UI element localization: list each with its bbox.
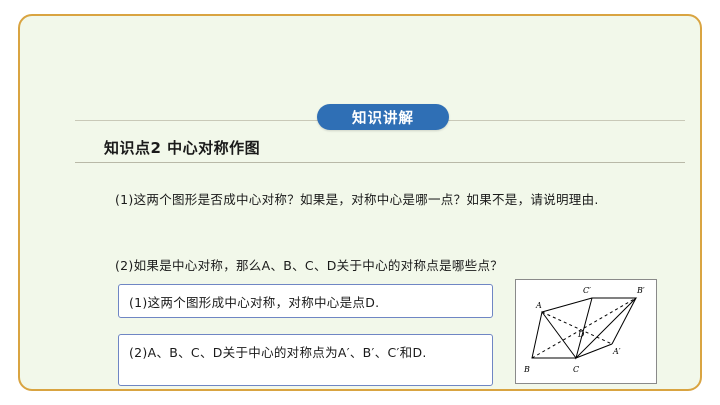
label-c: C [573, 365, 579, 374]
triangle-abc [532, 312, 576, 358]
title-underline [75, 162, 685, 163]
slide: 知识讲解 知识点2 中心对称作图 (1)这两个图形是否成中心对称？如果是，对称中… [0, 0, 720, 405]
answer-box-2: (2)A、B、C、D关于中心的对称点为A′、B′、C′和D. [118, 334, 493, 386]
label-b: B [523, 365, 530, 374]
knowledge-point-title: 知识点2 中心对称作图 [104, 137, 260, 158]
section-banner-label: 知识讲解 [352, 107, 414, 128]
label-d: D [577, 330, 585, 339]
section-banner: 知识讲解 [317, 104, 449, 130]
label-a-prime: A′ [612, 347, 621, 356]
question-2: (2)如果是中心对称，那么A、B、C、D关于中心的对称点是哪些点？ [115, 254, 640, 278]
answer-box-1: (1)这两个图形成中心对称，对称中心是点D. [118, 284, 493, 318]
question-1: (1)这两个图形是否成中心对称？如果是，对称中心是哪一点？如果不是，请说明理由. [115, 188, 640, 212]
figure-panel: C′ B′ A D A′ B C [515, 279, 657, 384]
central-symmetry-figure: C′ B′ A D A′ B C [516, 280, 656, 383]
content-card: 知识讲解 知识点2 中心对称作图 (1)这两个图形是否成中心对称？如果是，对称中… [18, 14, 702, 391]
label-b-prime: B′ [636, 286, 645, 295]
label-c-prime: C′ [583, 286, 591, 295]
label-a: A [535, 301, 542, 310]
